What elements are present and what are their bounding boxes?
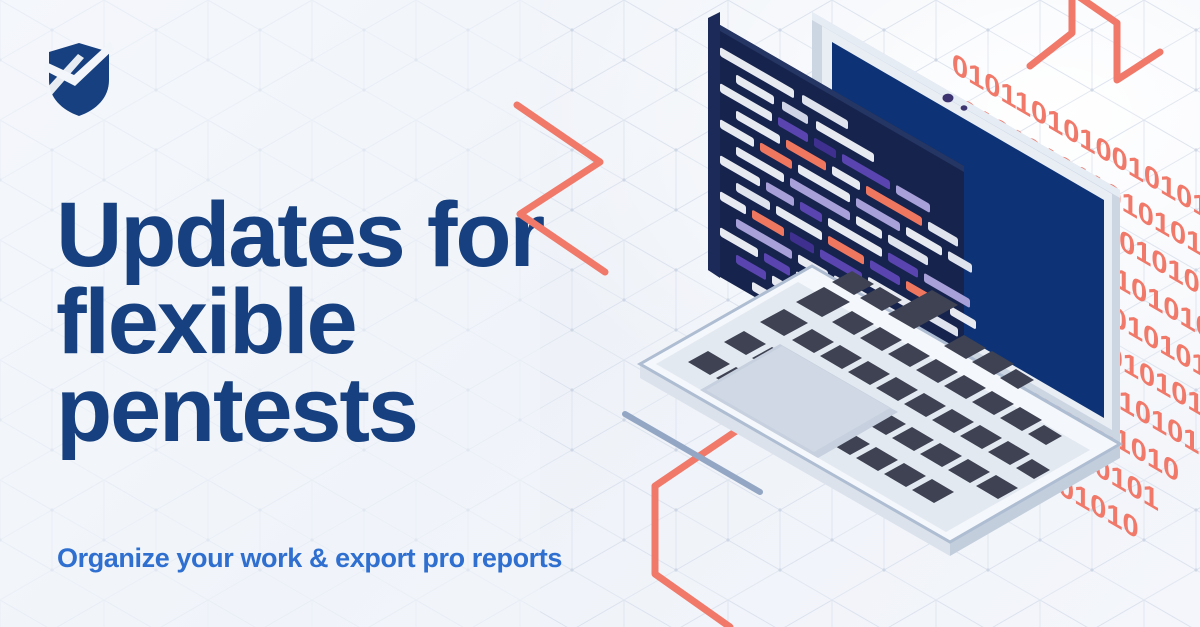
hero-banner: Updates for flexible pentests Organize y…	[0, 0, 1200, 627]
isometric-laptop-illustration: 01011010100101010 010101011010101010 101…	[560, 0, 1200, 627]
